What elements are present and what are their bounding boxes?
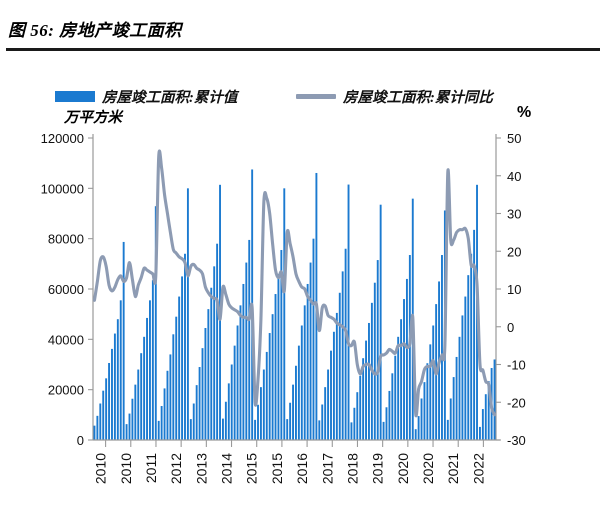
legend-item-line-series: 房屋竣工面积:累计同比: [296, 86, 493, 107]
bar: [234, 346, 236, 440]
bar: [105, 378, 107, 440]
bar: [263, 370, 265, 440]
chart-legend: 房屋竣工面积:累计值 房屋竣工面积:累计同比: [0, 86, 606, 108]
bar: [222, 419, 224, 440]
bar: [388, 391, 390, 440]
bar: [213, 266, 215, 440]
bar: [403, 299, 405, 440]
right-axis: 50403020100-10-20-30: [496, 131, 526, 448]
x-axis-tick-label: 2018: [344, 453, 360, 484]
bar: [108, 363, 110, 440]
bar: [318, 420, 320, 440]
line-series: [94, 151, 494, 416]
bar: [406, 279, 408, 440]
bar: [269, 333, 271, 440]
bar: [129, 414, 131, 440]
x-axis-tick-label: 2010: [118, 453, 134, 484]
bar: [111, 349, 113, 440]
left-axis: 120000100000800006000040000200000: [41, 131, 93, 448]
left-axis-tick-label: 0: [77, 433, 84, 448]
bar: [277, 274, 279, 440]
bar: [447, 420, 449, 440]
bar: [400, 319, 402, 440]
bar: [94, 426, 96, 440]
right-axis-tick-label: 30: [507, 207, 521, 222]
figure-header: 图 56: 房地产竣工面积: [0, 0, 606, 50]
bar: [368, 323, 370, 440]
bar: [313, 239, 315, 440]
bar: [158, 421, 160, 440]
bar: [307, 284, 309, 440]
bar: [123, 242, 125, 440]
bar: [295, 366, 297, 440]
bar: [345, 249, 347, 440]
bar: [461, 315, 463, 440]
bar: [117, 319, 119, 440]
legend-item-bar-series: 房屋竣工面积:累计值: [55, 86, 237, 107]
bar: [383, 422, 385, 440]
bar: [450, 398, 452, 440]
bar: [169, 354, 171, 440]
bar: [143, 337, 145, 440]
bar: [426, 363, 428, 440]
left-axis-tick-label: 100000: [41, 181, 84, 196]
bar: [356, 392, 358, 440]
chart-plot-area: 120000100000800006000040000200000 504030…: [0, 126, 606, 511]
bar: [418, 416, 420, 440]
right-axis-unit-label: %: [517, 104, 531, 122]
bar: [187, 188, 189, 440]
bar: [204, 328, 206, 440]
right-axis-tick-label: 40: [507, 169, 521, 184]
yoy-line: [94, 151, 494, 416]
bar: [199, 367, 201, 440]
bar: [207, 309, 209, 440]
bar: [228, 383, 230, 440]
bar: [365, 341, 367, 440]
bar: [216, 244, 218, 440]
bar: [210, 288, 212, 440]
bar: [120, 300, 122, 440]
bar: [292, 385, 294, 440]
bar: [301, 325, 303, 440]
right-axis-tick-label: 50: [507, 131, 521, 146]
left-axis-tick-label: 40000: [48, 332, 84, 347]
x-axis-tick-label: 2021: [445, 453, 461, 484]
bar: [181, 276, 183, 440]
bar: [248, 240, 250, 440]
x-axis-tick-label: 2010: [93, 453, 109, 484]
x-axis-tick-label: 2017: [319, 453, 335, 484]
bar: [134, 385, 136, 440]
bar: [167, 371, 169, 440]
bar: [441, 255, 443, 440]
bar-series: [94, 169, 496, 440]
x-axis-tick-label: 2019: [370, 453, 386, 484]
bar: [330, 351, 332, 440]
left-axis-tick-label: 60000: [48, 282, 84, 297]
chart-svg: 120000100000800006000040000200000 504030…: [0, 126, 606, 511]
bar: [359, 376, 361, 440]
bar: [237, 325, 239, 440]
bar: [479, 427, 481, 440]
legend-bar-swatch-icon: [55, 91, 95, 102]
bar: [240, 305, 242, 440]
bar: [351, 422, 353, 440]
right-axis-tick-label: 10: [507, 282, 521, 297]
x-axis-tick-label: 2011: [143, 453, 159, 483]
bar: [432, 325, 434, 440]
bar: [161, 406, 163, 440]
bar: [126, 424, 128, 440]
bar: [283, 188, 285, 440]
bar: [96, 416, 98, 440]
bar: [178, 297, 180, 440]
bar: [333, 332, 335, 440]
bar: [152, 280, 154, 440]
bar: [175, 317, 177, 440]
bar: [386, 407, 388, 440]
bar: [380, 205, 382, 440]
bar: [172, 334, 174, 440]
bar: [102, 391, 104, 440]
bar: [266, 352, 268, 440]
bar: [456, 357, 458, 440]
bar: [424, 382, 426, 440]
right-axis-tick-label: -20: [507, 395, 526, 410]
bar: [184, 254, 186, 440]
bar: [242, 284, 244, 440]
bar: [397, 337, 399, 440]
bar: [310, 263, 312, 440]
bar: [272, 314, 274, 440]
left-axis-tick-label: 80000: [48, 232, 84, 247]
bar: [327, 370, 329, 440]
bar: [99, 404, 101, 440]
bar: [289, 403, 291, 440]
bar: [415, 429, 417, 440]
bar: [286, 419, 288, 440]
bar: [149, 300, 151, 440]
left-axis-tick-label: 120000: [41, 131, 84, 146]
legend-bar-label: 房屋竣工面积:累计值: [102, 86, 237, 107]
bar: [467, 275, 469, 440]
x-axis-tick-label: 2022: [470, 453, 486, 484]
x-axis-tick-label: 2012: [168, 453, 184, 484]
bar: [391, 373, 393, 440]
legend-line-swatch-icon: [296, 94, 336, 99]
bar: [485, 394, 487, 440]
x-axis: 2010201020112012201320142015201520162017…: [93, 440, 500, 484]
title-divider: [6, 48, 600, 51]
bar: [464, 297, 466, 440]
x-axis-tick-label: 2016: [294, 453, 310, 484]
right-axis-tick-label: -10: [507, 358, 526, 373]
bar: [304, 305, 306, 440]
bar: [245, 263, 247, 440]
bar: [339, 293, 341, 440]
right-axis-tick-label: -30: [507, 433, 526, 448]
bar: [353, 408, 355, 440]
bar: [429, 344, 431, 440]
bar: [459, 337, 461, 440]
bar: [260, 387, 262, 440]
bar: [190, 419, 192, 440]
bar: [342, 271, 344, 440]
bar: [298, 346, 300, 440]
x-axis-tick-label: 2015: [269, 453, 285, 484]
bar: [146, 318, 148, 440]
left-axis-tick-label: 20000: [48, 383, 84, 398]
bar: [202, 348, 204, 440]
bar: [193, 404, 195, 440]
x-axis-tick-label: 2014: [219, 453, 235, 484]
x-axis-tick-label: 2015: [244, 453, 260, 484]
bar: [114, 334, 116, 440]
bar: [131, 399, 133, 440]
bar: [164, 388, 166, 440]
x-axis-tick-label: 2020: [420, 453, 436, 484]
bar: [482, 409, 484, 440]
bar: [470, 254, 472, 440]
bar: [231, 365, 233, 441]
bar: [453, 377, 455, 440]
legend-line-label: 房屋竣工面积:累计同比: [343, 86, 493, 107]
x-axis-tick-label: 2020: [395, 453, 411, 484]
bar: [196, 385, 198, 440]
bar: [377, 260, 379, 440]
bar: [254, 420, 256, 440]
bar: [324, 387, 326, 440]
bar: [257, 405, 259, 440]
right-axis-tick-label: 0: [507, 320, 514, 335]
bar: [225, 402, 227, 440]
bar: [137, 370, 139, 440]
x-axis-tick-label: 2013: [193, 453, 209, 484]
bar: [140, 353, 142, 440]
bar: [421, 398, 423, 440]
bar: [321, 405, 323, 440]
bar: [348, 185, 350, 440]
bar: [473, 230, 475, 440]
bar: [336, 313, 338, 440]
bar: [394, 356, 396, 440]
bar: [275, 294, 277, 440]
bar: [494, 359, 496, 440]
page-title: 图 56: 房地产竣工面积: [8, 16, 182, 41]
right-axis-tick-label: 20: [507, 244, 521, 259]
left-axis-unit-label: 万平方米: [64, 106, 122, 127]
bar: [374, 283, 376, 440]
